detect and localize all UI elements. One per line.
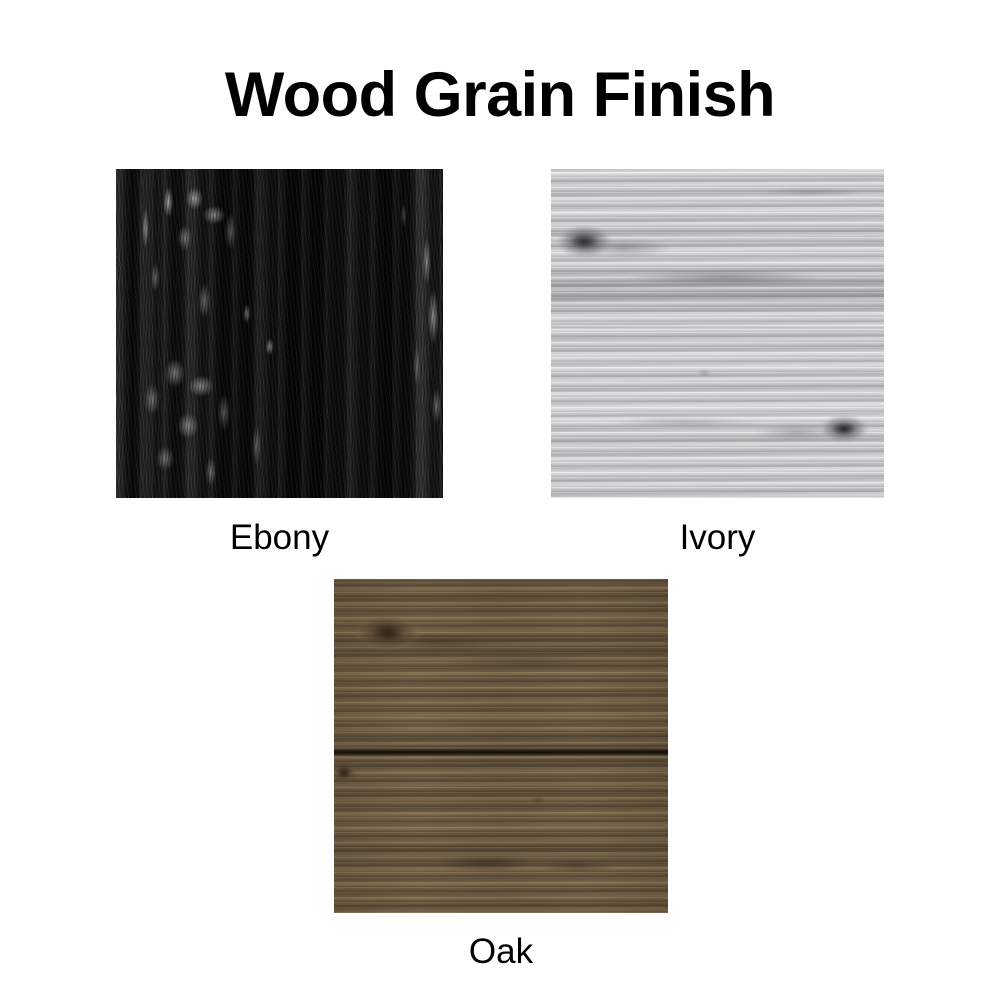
- swatch-image-ebony[interactable]: [116, 169, 443, 498]
- swatch-image-oak[interactable]: [334, 579, 668, 913]
- swatch-option-ebony[interactable]: Ebony: [116, 169, 443, 498]
- wood-noise-layer: [116, 169, 443, 498]
- plank-seam-layer: [551, 169, 884, 498]
- swatch-label-oak: Oak: [469, 934, 533, 969]
- page-title: Wood Grain Finish: [0, 64, 1000, 127]
- swatch-label-ivory: Ivory: [680, 520, 756, 555]
- swatch-option-ivory[interactable]: Ivory: [551, 169, 884, 498]
- swatch-label-ebony: Ebony: [230, 520, 329, 555]
- swatch-image-ivory[interactable]: [551, 169, 884, 498]
- swatch-option-oak[interactable]: Oak: [334, 579, 668, 913]
- plank-seam-layer: [334, 579, 668, 913]
